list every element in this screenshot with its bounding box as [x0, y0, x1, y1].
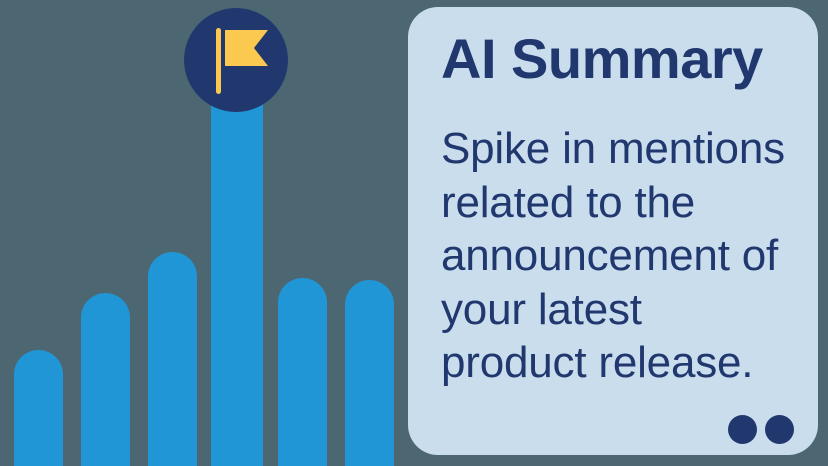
body-line-2: related to the: [441, 176, 793, 230]
panel-dots-indicator: [728, 415, 794, 444]
panel-dot-1[interactable]: [728, 415, 757, 444]
panel-title: AI Summary: [441, 26, 763, 92]
chart-bar-3[interactable]: [148, 252, 197, 466]
panel-body-text: Spike in mentions related to the announc…: [441, 122, 793, 390]
chart-bar-1[interactable]: [14, 350, 63, 466]
chart-bar-5[interactable]: [278, 278, 327, 466]
ai-summary-panel: AI Summary Spike in mentions related to …: [408, 7, 818, 455]
ai-summary-illustration: AI Summary Spike in mentions related to …: [0, 0, 828, 466]
chart-bar-4-highlighted[interactable]: [211, 56, 263, 466]
body-line-3: announcement of: [441, 229, 793, 283]
body-line-4: your latest: [441, 283, 793, 337]
body-line-5: product release.: [441, 336, 793, 390]
flag-marker-badge[interactable]: [184, 8, 288, 112]
chart-bar-6[interactable]: [345, 280, 394, 466]
body-line-1: Spike in mentions: [441, 122, 793, 176]
chart-bar-2[interactable]: [81, 293, 130, 466]
panel-dot-2[interactable]: [765, 415, 794, 444]
flag-icon: [184, 8, 288, 112]
